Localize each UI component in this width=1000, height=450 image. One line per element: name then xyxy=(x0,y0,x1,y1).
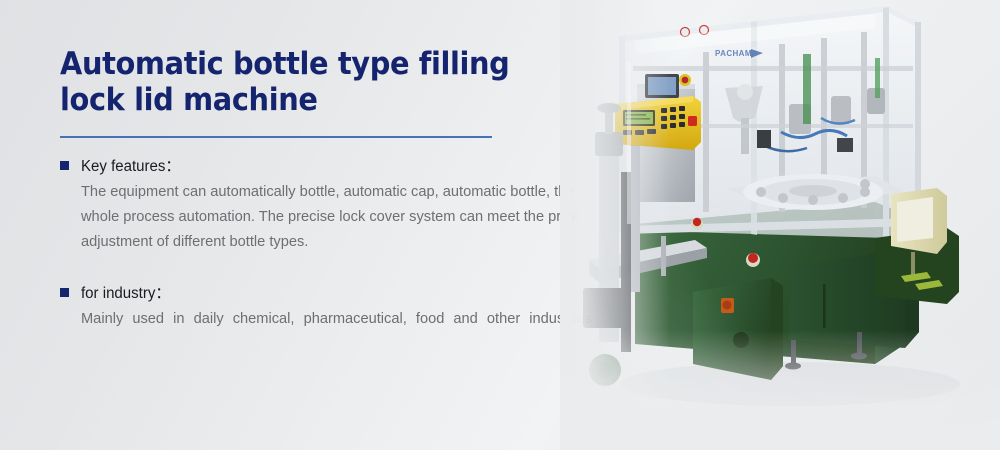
feature-heading: for industry： xyxy=(60,284,605,304)
feature-heading: Key features： xyxy=(60,157,605,177)
machine-brand-logo: PACHAM xyxy=(711,47,763,59)
feature-body-key-features: The equipment can automatically bottle, … xyxy=(81,179,592,254)
title-divider xyxy=(60,136,492,138)
square-bullet-icon xyxy=(60,161,69,170)
product-banner: Automatic bottle type filling lock lid m… xyxy=(0,0,1000,450)
feature-block-for-industry: for industry： Mainly used in daily chemi… xyxy=(60,284,605,356)
feature-block-key-features: Key features： The equipment can automati… xyxy=(60,157,605,254)
page-title: Automatic bottle type filling lock lid m… xyxy=(60,46,567,118)
machine-photo: PACHAM xyxy=(575,0,1000,450)
machine-illustration: PACHAM xyxy=(575,0,1000,450)
banner-copy: Automatic bottle type filling lock lid m… xyxy=(60,46,605,356)
square-bullet-icon xyxy=(60,288,69,297)
feature-label-key-features: Key features： xyxy=(81,157,180,177)
feature-label-for-industry: for industry： xyxy=(81,284,170,304)
feature-body-for-industry: Mainly used in daily chemical, pharmaceu… xyxy=(81,306,592,356)
svg-text:PACHAM: PACHAM xyxy=(715,49,752,58)
